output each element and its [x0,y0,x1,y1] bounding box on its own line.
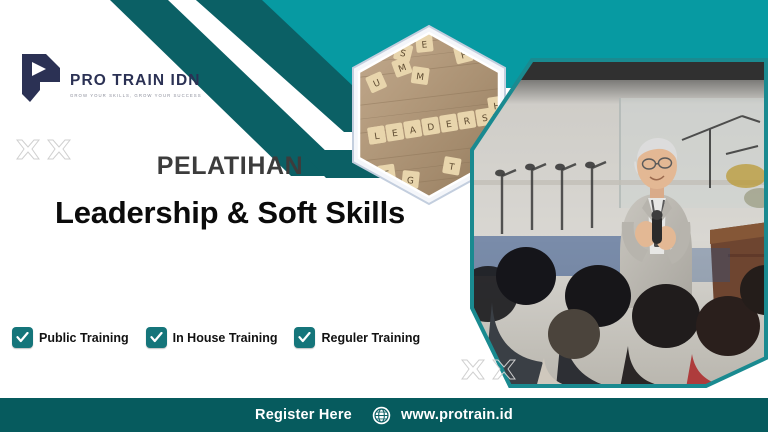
x-cross-motif-icon [489,357,519,383]
checkmark-icon [16,332,29,343]
training-type-label: Reguler Training [321,331,420,345]
checkbox-checked-icon[interactable] [146,327,167,348]
arrow-p-mark-icon [16,52,64,104]
brand-logo: PRO TRAIN IDN GROW YOUR SKILLS, GROW YOU… [16,52,202,104]
training-type-label: Public Training [39,331,129,345]
checkbox-checked-icon[interactable] [294,327,315,348]
footer-bar: Register Here www.protrain.id [0,398,768,432]
training-type-list: Public Training In House Training Regule… [12,327,420,348]
brand-tagline: GROW YOUR SKILLS, GROW YOUR SUCCESS [70,93,202,98]
training-type-in-house[interactable]: In House Training [146,327,278,348]
brand-name: PRO TRAIN IDN [70,72,202,89]
x-cross-motif-icon [458,357,488,383]
x-motif-bottom [458,357,519,383]
speaker-with-microphone-audience-photo [470,58,768,388]
checkbox-checked-icon[interactable] [12,327,33,348]
training-promo-banner: PRO TRAIN IDN GROW YOUR SKILLS, GROW YOU… [0,0,768,432]
training-type-label: In House Training [173,331,278,345]
website-group[interactable]: www.protrain.id [372,406,513,425]
speaker-photo-panel [470,58,768,388]
checkmark-icon [150,332,163,343]
globe-icon [372,406,391,425]
register-here-cta[interactable]: Register Here [255,407,352,423]
training-type-public[interactable]: Public Training [12,327,129,348]
checkmark-icon [298,332,311,343]
training-type-reguler[interactable]: Reguler Training [294,327,420,348]
website-url[interactable]: www.protrain.id [401,407,513,423]
svg-text:M: M [415,72,424,83]
